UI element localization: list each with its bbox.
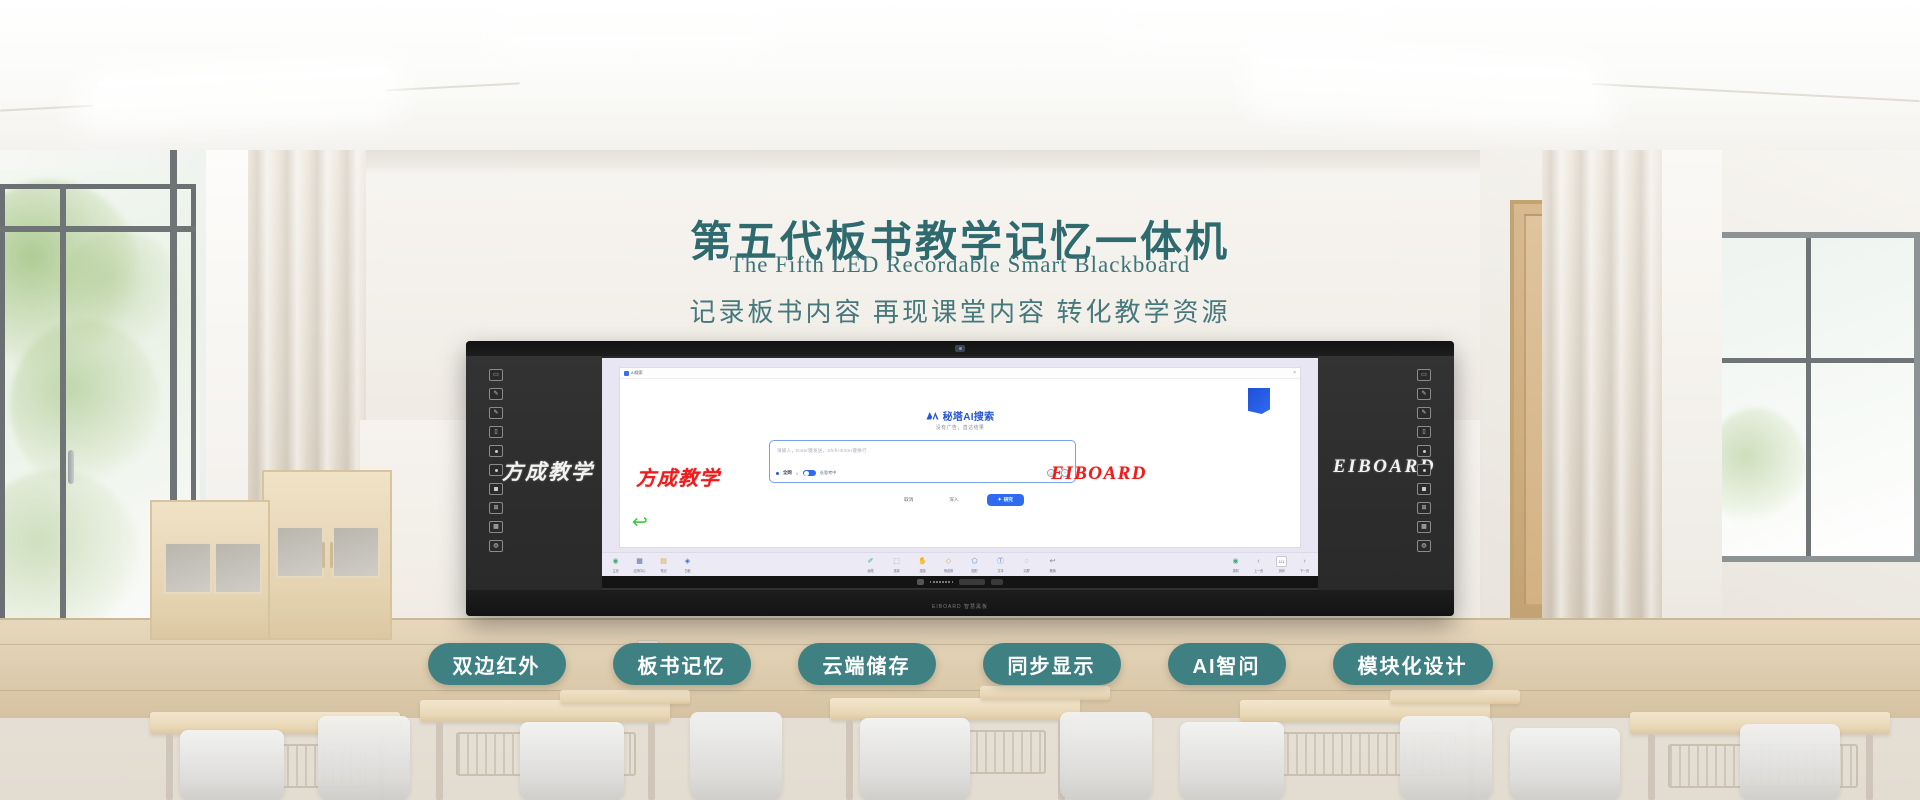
save-icon[interactable]: ⊞ (1417, 502, 1431, 514)
undo-arrow-icon[interactable]: ↪ (632, 513, 648, 532)
toolbar-item[interactable]: ◉ 主页 (608, 556, 623, 573)
search-placeholder: 请输入，Enter键发送，Shift+Enter键换行 (777, 448, 867, 454)
eraser-icon[interactable]: ▩ (489, 521, 503, 533)
app-favicon (624, 371, 629, 376)
board-top-bar (466, 341, 1454, 356)
brand-tagline: 没有广告，直达结果 (620, 424, 1300, 431)
display-mode-icon[interactable]: ▭ (489, 369, 503, 381)
action-button-row: 取消 深入 ✦ 研究 (620, 494, 1300, 506)
brand-row: 秘塔AI搜索 (620, 408, 1300, 423)
toolbar-label: 白板 (680, 568, 695, 573)
toolbar-label: 上一页 (1251, 568, 1266, 573)
brightness-up-icon[interactable] (1417, 445, 1431, 457)
toolbar-label: 选择 (889, 568, 904, 573)
toolbar-left-group: ◉ 主页 ▦ 应用中心 ▤ 笔记 ◈ 白板 (608, 556, 695, 573)
feature-pill-sync-display[interactable]: 同步显示 (983, 643, 1121, 685)
power-icon[interactable]: ◍ (1417, 540, 1431, 552)
toolbar-item[interactable]: ‹ 上一页 (1251, 556, 1266, 573)
toolbar-item: 1/1 页码 (1274, 556, 1289, 573)
display-mode-icon[interactable]: ▭ (1417, 369, 1431, 381)
feature-pill-cloud-storage[interactable]: 云端储存 (798, 643, 936, 685)
app-title-bar: AI搜索 × (620, 368, 1300, 379)
page-description: 记录板书内容 再现课堂内容 转化教学资源 (0, 292, 1920, 329)
handwriting-red-en: EIBOARD (1051, 463, 1147, 485)
eraser-icon[interactable]: ▩ (1417, 521, 1431, 533)
apps-icon: ▦ (634, 556, 645, 567)
brightness-down-icon[interactable] (489, 464, 503, 476)
ai-search-window[interactable]: AI搜索 × 秘塔AI搜索 没有广告，直达结果 请 (619, 367, 1301, 548)
next-page-icon: › (1299, 556, 1310, 567)
sparkle-icon: ✦ (998, 497, 1002, 503)
select-icon: ⬚ (891, 556, 902, 567)
undo-icon: ↩ (1047, 556, 1058, 567)
toolbar-label: 页码 (1274, 568, 1289, 573)
toolbar-item[interactable]: ▤ 笔记 (656, 556, 671, 573)
toolbar-item[interactable]: ◉ 录制 (1228, 556, 1243, 573)
toolbar-item[interactable]: ◈ 白板 (680, 556, 695, 573)
taskbar-window[interactable] (959, 579, 985, 585)
toolbar-item[interactable]: Ⓣ 文本 (993, 556, 1008, 573)
feature-pill-modular-design[interactable]: 模块化设计 (1333, 643, 1493, 685)
brightness-up-icon[interactable] (489, 445, 503, 457)
storage-cabinet (150, 500, 270, 640)
screen-toolbar[interactable]: ◉ 主页 ▦ 应用中心 ▤ 笔记 ◈ 白板 (602, 552, 1318, 576)
toolbar-item[interactable]: ✐ 画笔 (863, 556, 878, 573)
browser-tab[interactable]: AI搜索 (624, 370, 643, 376)
record-icon: ◉ (1230, 556, 1241, 567)
search-input[interactable]: 请输入，Enter键发送，Shift+Enter键换行 全网 ∨ 长思考中 ◎ … (769, 440, 1076, 483)
page-icon[interactable]: ▯ (489, 426, 503, 438)
eraser-icon: ◇ (943, 556, 954, 567)
cancel-button[interactable]: 取消 (896, 495, 921, 505)
whiteboard-icon: ◈ (682, 556, 693, 567)
toolbar-label: 下一页 (1297, 568, 1312, 573)
toolbar-label: 录制 (1228, 568, 1243, 573)
toolbar-label: 主页 (608, 568, 623, 573)
feature-pill-writing-memory[interactable]: 板书记忆 (613, 643, 751, 685)
chalk-text-left: 方成教学 (502, 456, 594, 486)
toolbar-item[interactable]: ✋ 漫游 (915, 556, 930, 573)
search-mode-label[interactable]: 全网 (783, 470, 792, 476)
ceiling-light (1129, 10, 1362, 28)
start-icon[interactable] (917, 579, 924, 585)
toolbar-label: 橡皮擦 (941, 568, 956, 573)
taskbar-apps[interactable] (930, 581, 953, 583)
window-handle[interactable] (68, 450, 74, 484)
stop-icon[interactable] (1417, 483, 1431, 495)
camera-icon (955, 345, 965, 352)
ceiling-light (508, 14, 762, 34)
system-taskbar[interactable] (602, 576, 1318, 588)
close-icon[interactable]: × (1293, 371, 1296, 376)
toolbar-item[interactable]: › 下一页 (1297, 556, 1312, 573)
tab-label: AI搜索 (631, 370, 643, 376)
toolbar-item[interactable]: ↩ 撤销 (1045, 556, 1060, 573)
page-count-value: 1/1 (1276, 556, 1287, 567)
feature-pill-dual-infrared[interactable]: 双边红外 (428, 643, 566, 685)
classroom-banner: 第五代板书教学记忆一体机 The Fifth LED Recordable Sm… (0, 0, 1920, 800)
toolbar-right-group: ◉ 录制 ‹ 上一页 1/1 页码 › 下一页 (1228, 556, 1312, 573)
toolbar-label: 文本 (993, 568, 1008, 573)
hand-icon: ✋ (917, 556, 928, 567)
board-side-buttons-right[interactable]: ▭ ✎ ✎ ▯ ⊞ ▩ ◍ (1412, 369, 1436, 552)
toolbar-middle-group: ✐ 画笔 ⬚ 选择 ✋ 漫游 ◇ 橡皮擦 (863, 556, 1060, 573)
notes-icon: ▤ (658, 556, 669, 567)
pen-icon: ✐ (865, 556, 876, 567)
toolbar-item[interactable]: ◌ 清屏 (1019, 556, 1034, 573)
toolbar-label: 画笔 (863, 568, 878, 573)
handwriting-red-cn: 方成教学 (636, 462, 720, 491)
deep-think-label: 长思考中 (820, 470, 837, 476)
prev-page-icon: ‹ (1253, 556, 1264, 567)
storage-cabinet (262, 470, 392, 640)
save-icon[interactable]: ⊞ (489, 502, 503, 514)
deep-think-toggle[interactable] (803, 470, 816, 477)
mode-dot-icon (776, 472, 779, 475)
pen-red-icon[interactable]: ✎ (489, 388, 503, 400)
feature-pill-ai-ask[interactable]: AI智问 (1168, 643, 1286, 685)
toolbar-item[interactable]: ▦ 应用中心 (632, 556, 647, 573)
brand-name: 秘塔AI搜索 (943, 408, 995, 423)
taskbar-window[interactable] (991, 579, 1003, 585)
toolbar-label: 笔记 (656, 568, 671, 573)
power-icon[interactable]: ◍ (489, 540, 503, 552)
right-window (1690, 232, 1920, 562)
text-icon: Ⓣ (995, 556, 1006, 567)
toolbar-item[interactable]: ◇ 橡皮擦 (941, 556, 956, 573)
chevron-down-icon[interactable]: ∨ (796, 471, 799, 476)
toolbar-label: 图形 (967, 568, 982, 573)
board-side-buttons-left[interactable]: ▭ ✎ ✎ ▯ ⊞ ▩ ◍ (484, 369, 508, 552)
brightness-down-icon[interactable] (1417, 464, 1431, 476)
refresh-icon: ◌ (1021, 556, 1032, 567)
page-subtitle-en: The Fifth LED Recordable Smart Blackboar… (0, 252, 1920, 278)
smart-blackboard[interactable]: 方成教学 EIBOARD ▭ ✎ ✎ ▯ ⊞ ▩ ◍ ▭ ✎ ✎ ▯ ⊞ ▩ (466, 341, 1454, 616)
search-options: 全网 ∨ 长思考中 ◎ ＋ (776, 469, 1069, 477)
page-icon[interactable]: ▯ (1417, 426, 1431, 438)
research-button-label: 研究 (1004, 497, 1013, 503)
pen-white-icon[interactable]: ✎ (489, 407, 503, 419)
board-brand-logo: EIBOARD 智慧黑板 (932, 603, 988, 610)
metaso-logo-icon (926, 411, 939, 420)
board-bottom-bar: EIBOARD 智慧黑板 (466, 590, 1454, 616)
toolbar-item[interactable]: ⬚ 选择 (889, 556, 904, 573)
toolbar-label: 撤销 (1045, 568, 1060, 573)
toolbar-label: 清屏 (1019, 568, 1034, 573)
toolbar-label: 应用中心 (632, 568, 647, 573)
pen-white-icon[interactable]: ✎ (1417, 407, 1431, 419)
pen-red-icon[interactable]: ✎ (1417, 388, 1431, 400)
toolbar-label: 漫游 (915, 568, 930, 573)
shape-icon: ⬠ (969, 556, 980, 567)
home-icon: ◉ (610, 556, 621, 567)
stop-icon[interactable] (489, 483, 503, 495)
insert-button[interactable]: 深入 (941, 495, 966, 505)
toolbar-item[interactable]: ⬠ 图形 (967, 556, 982, 573)
feature-pill-row: 双边红外 板书记忆 云端储存 同步显示 AI智问 模块化设计 (0, 643, 1920, 685)
research-button[interactable]: ✦ 研究 (987, 494, 1024, 506)
